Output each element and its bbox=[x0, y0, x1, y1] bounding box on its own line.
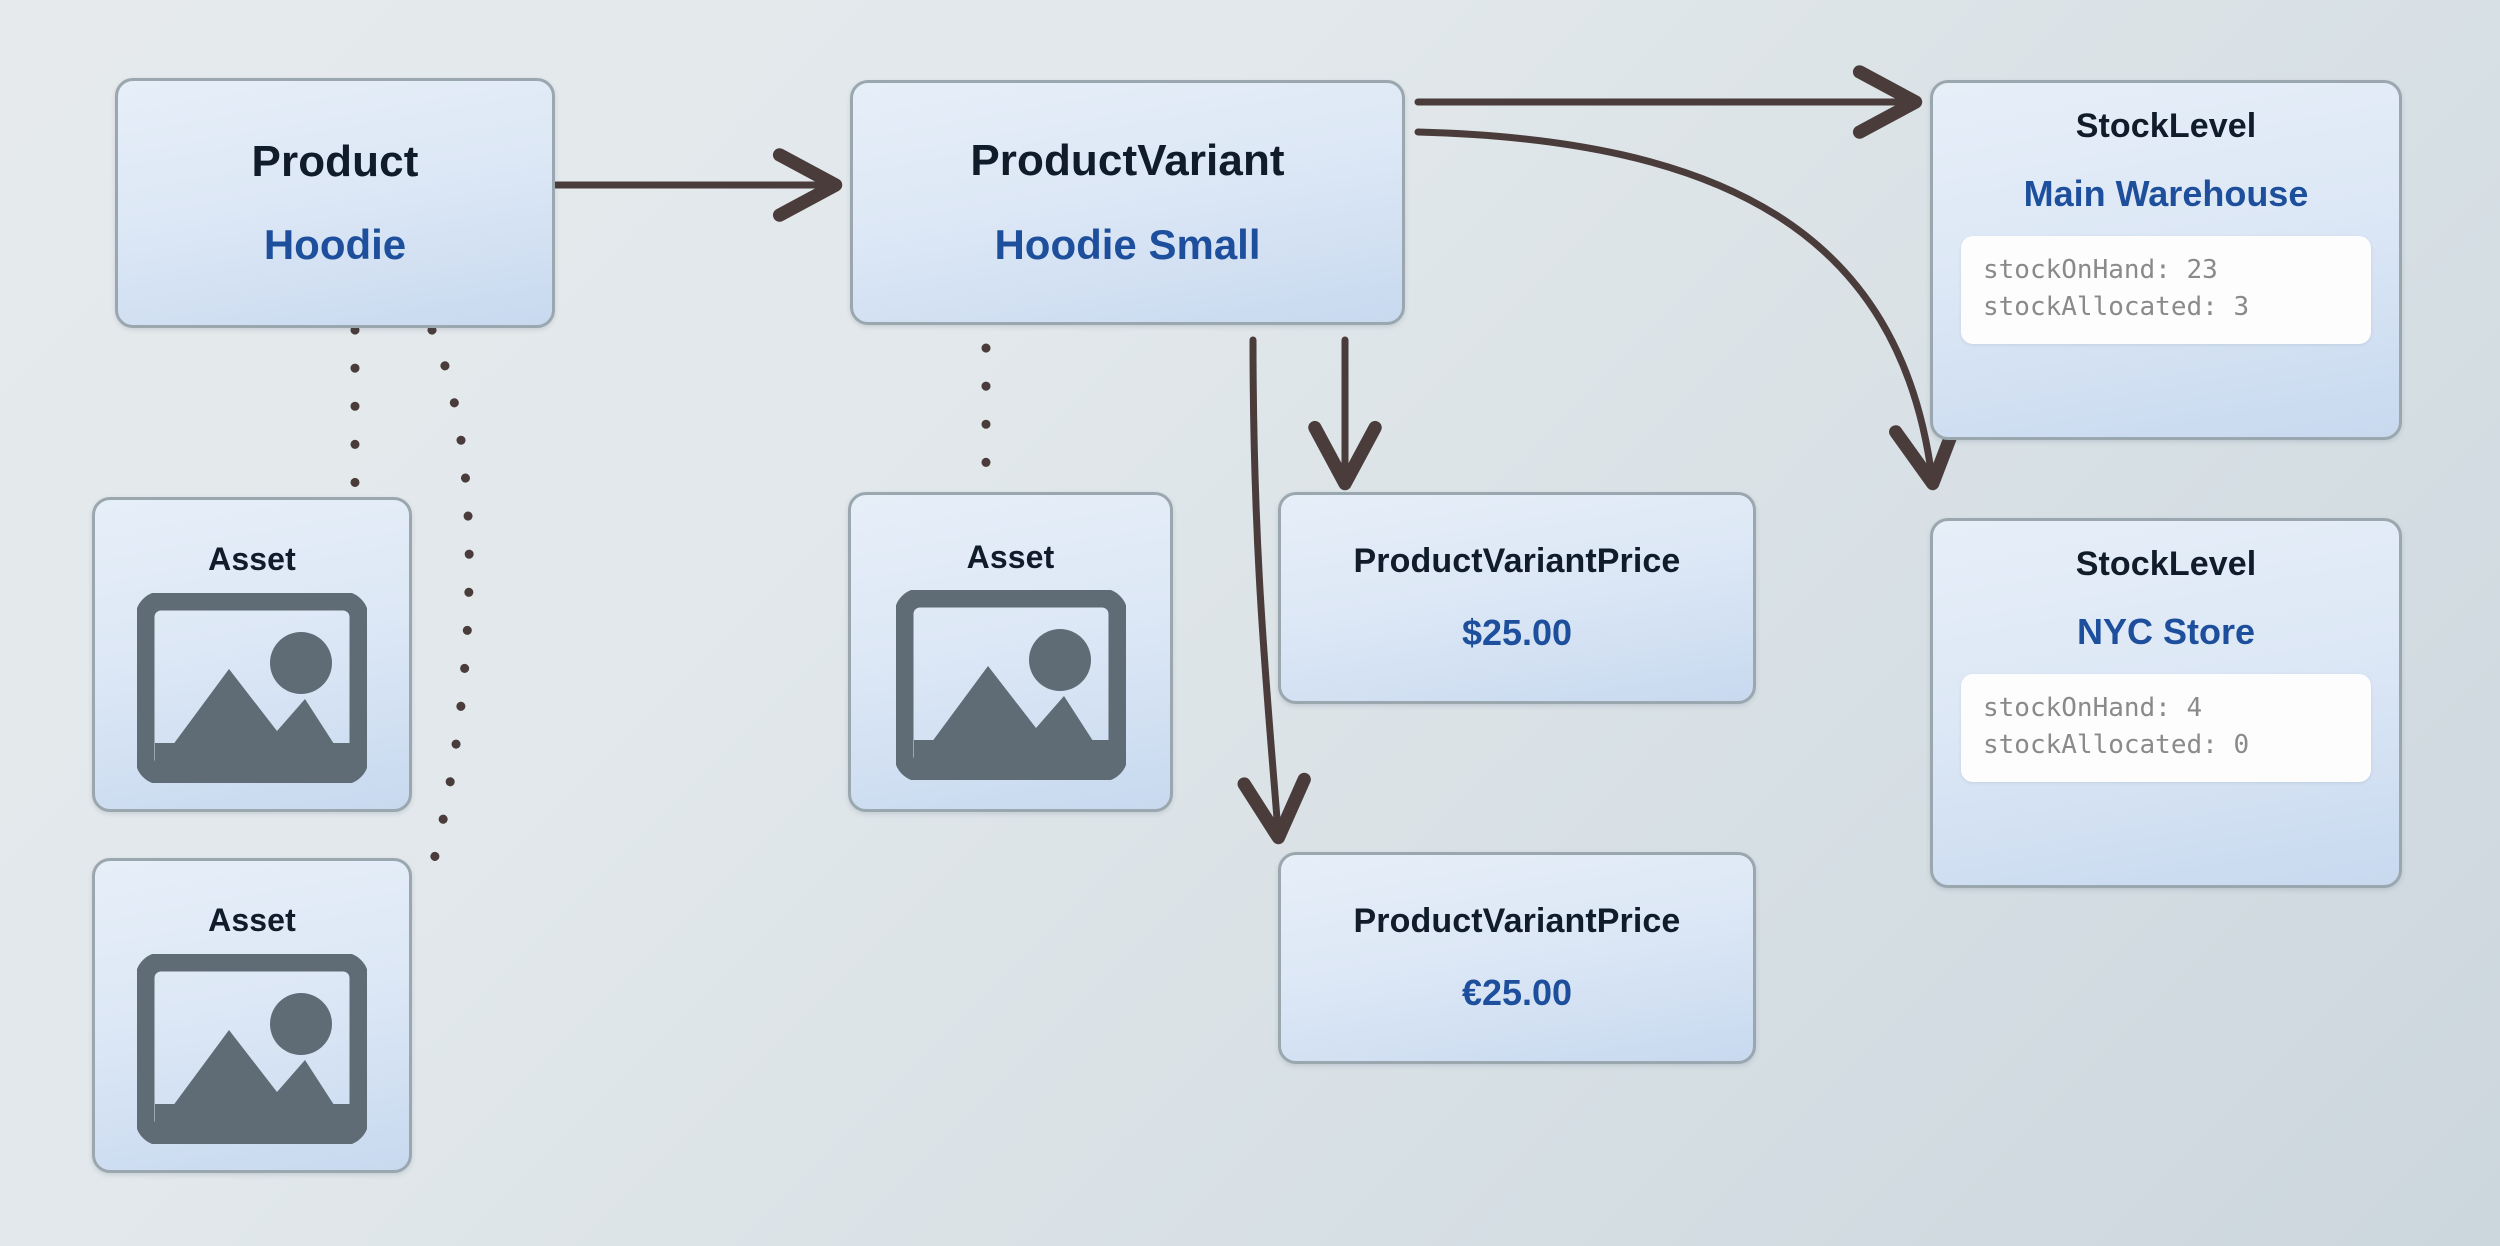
node-product-value-label: Hoodie bbox=[264, 223, 406, 267]
edge-variant-to-stock-nyc bbox=[1418, 132, 1932, 478]
node-product-type-label: Product bbox=[252, 139, 419, 185]
stock-field-on-hand: stockOnHand: 23 bbox=[1983, 252, 2349, 289]
node-product-variant-type-label: ProductVariant bbox=[970, 138, 1284, 184]
node-product-asset-1[interactable]: Asset bbox=[92, 497, 412, 812]
node-stock-nyc-store-type-label: StockLevel bbox=[2076, 547, 2257, 583]
edge-variant-to-price-eur bbox=[1253, 340, 1278, 832]
node-stock-main-warehouse[interactable]: StockLevel Main Warehouse stockOnHand: 2… bbox=[1930, 80, 2402, 440]
node-variant-asset-1[interactable]: Asset bbox=[848, 492, 1173, 812]
node-price-eur-type-label: ProductVariantPrice bbox=[1354, 904, 1681, 940]
stock-field-allocated: stockAllocated: 0 bbox=[1983, 727, 2349, 764]
node-price-usd-type-label: ProductVariantPrice bbox=[1354, 544, 1681, 580]
node-price-eur-value-label: €25.00 bbox=[1462, 974, 1572, 1012]
image-placeholder-icon bbox=[137, 954, 367, 1149]
stock-field-on-hand: stockOnHand: 4 bbox=[1983, 690, 2349, 727]
stock-fields-panel: stockOnHand: 4 stockAllocated: 0 bbox=[1961, 674, 2371, 782]
node-stock-nyc-store[interactable]: StockLevel NYC Store stockOnHand: 4 stoc… bbox=[1930, 518, 2402, 888]
diagram-canvas: Product Hoodie ProductVariant Hoodie Sma… bbox=[0, 0, 2500, 1246]
node-product-variant[interactable]: ProductVariant Hoodie Small bbox=[850, 80, 1405, 325]
node-price-usd-value-label: $25.00 bbox=[1462, 614, 1572, 652]
node-product-asset-1-type-label: Asset bbox=[208, 543, 296, 577]
stock-fields-panel: stockOnHand: 23 stockAllocated: 3 bbox=[1961, 236, 2371, 344]
node-stock-main-warehouse-value-label: Main Warehouse bbox=[2024, 175, 2309, 213]
node-variant-asset-1-type-label: Asset bbox=[967, 541, 1055, 575]
node-product-variant-value-label: Hoodie Small bbox=[994, 223, 1260, 267]
node-stock-main-warehouse-type-label: StockLevel bbox=[2076, 109, 2257, 145]
node-stock-nyc-store-value-label: NYC Store bbox=[2077, 613, 2255, 651]
node-price-usd[interactable]: ProductVariantPrice $25.00 bbox=[1278, 492, 1756, 704]
node-product[interactable]: Product Hoodie bbox=[115, 78, 555, 328]
node-product-asset-2-type-label: Asset bbox=[208, 904, 296, 938]
edge-product-to-asset-2 bbox=[432, 330, 469, 868]
node-product-asset-2[interactable]: Asset bbox=[92, 858, 412, 1173]
node-price-eur[interactable]: ProductVariantPrice €25.00 bbox=[1278, 852, 1756, 1064]
image-placeholder-icon bbox=[137, 593, 367, 788]
stock-field-allocated: stockAllocated: 3 bbox=[1983, 289, 2349, 326]
image-placeholder-icon bbox=[896, 590, 1126, 785]
